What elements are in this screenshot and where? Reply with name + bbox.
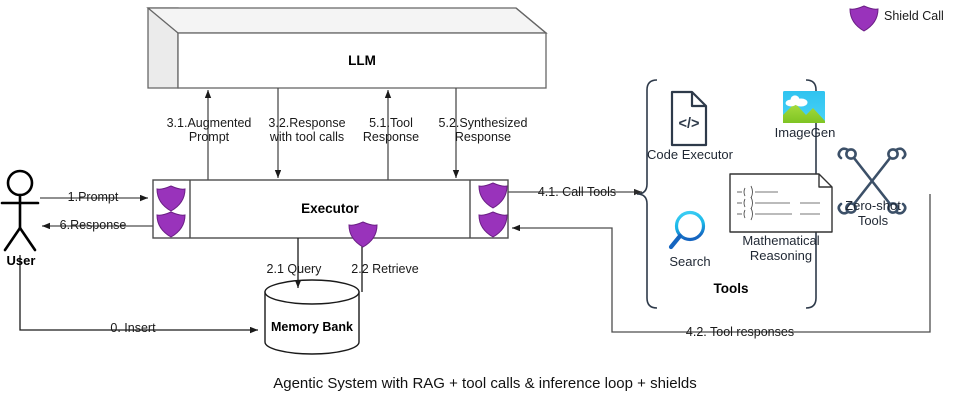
edge-label-query: 2.1 Query [244, 262, 344, 276]
executor-title: Executor [190, 201, 470, 216]
image-gen-icon[interactable] [783, 91, 825, 123]
llm-title: LLM [178, 53, 546, 68]
svg-text:</>: </> [679, 116, 700, 132]
tool-label-search: Search [650, 254, 730, 269]
legend-shield-label: Shield Call [884, 9, 970, 23]
edge-label-retrieve: 2.2 Retrieve [330, 262, 440, 276]
memory-bank-title: Memory Bank [265, 320, 359, 334]
tool-label-code-executor: Code Executor [645, 147, 735, 162]
shield-executor-center-bottom [349, 222, 377, 247]
edge-label-prompt: 1.Prompt [43, 190, 143, 204]
edge-insert [20, 255, 258, 330]
memory-bank-node[interactable] [265, 280, 359, 354]
edge-label-tool-responses: 4.2. Tool responses [660, 325, 820, 339]
llm-node[interactable] [148, 8, 546, 88]
shield-legend-icon [850, 6, 878, 31]
user-title: User [0, 253, 42, 268]
tool-label-mathematical-reasoning: Mathematical Reasoning [731, 233, 831, 263]
edge-label-synthesized-response: 5.2.Synthesized Response [413, 116, 553, 144]
edge-label-insert: 0. Insert [78, 321, 188, 335]
figure-caption: Agentic System with RAG + tool calls & i… [0, 375, 970, 392]
code-file-icon[interactable]: </> [672, 92, 706, 145]
tool-label-zero-shot-tools: Zero-shot Tools [828, 198, 918, 228]
user-actor[interactable] [2, 171, 38, 250]
edge-label-call-tools: 4.1. Call Tools [522, 185, 632, 199]
magnifier-icon[interactable] [671, 213, 704, 248]
tools-group-title: Tools [686, 281, 776, 296]
math-document-icon[interactable] [730, 174, 832, 232]
tool-label-imagegen: ImageGen [760, 125, 850, 140]
edge-label-response: 6.Response [38, 218, 148, 232]
